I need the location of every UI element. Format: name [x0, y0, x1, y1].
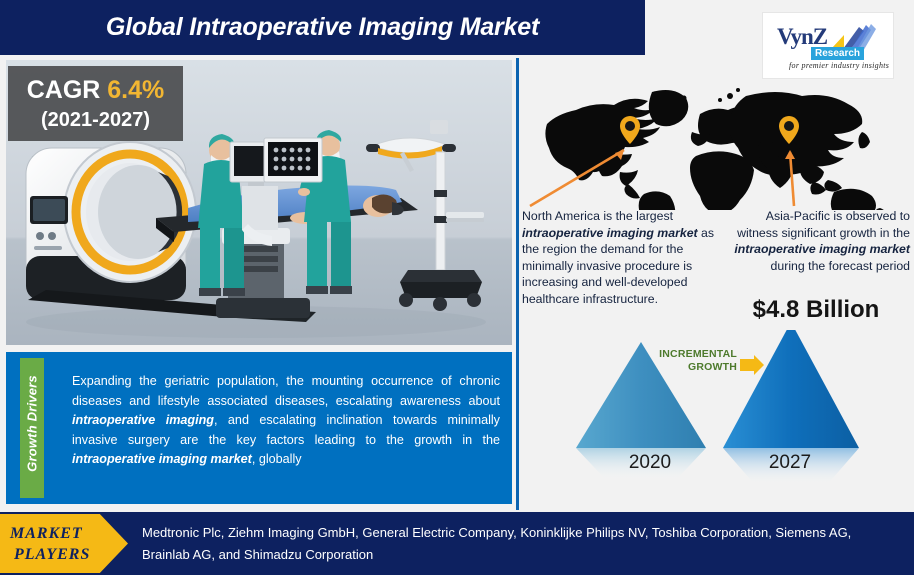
ap-text-part1: Asia-Pacific is observed to witness sign…: [737, 209, 910, 240]
asia-pacific-callout: Asia-Pacific is observed to witness sign…: [722, 208, 910, 274]
page-title: Global Intraoperative Imaging Market: [0, 0, 645, 55]
cagr-prefix: CAGR: [27, 76, 101, 104]
company-logo[interactable]: VynZ Research for premier industry insig…: [762, 12, 894, 79]
growth-drivers-tab: Growth Drivers: [20, 358, 44, 498]
drivers-part1: Expanding the geriatric population, the …: [72, 374, 500, 408]
logo-brand-z: Z: [813, 24, 827, 49]
market-players-text: Medtronic Plc, Ziehm Imaging GmbH, Gener…: [142, 522, 898, 566]
cagr-badge: CAGR 6.4% (2021-2027): [8, 66, 183, 141]
cagr-period: (2021-2027): [41, 110, 150, 130]
logo-tagline: for premier industry insights: [789, 61, 889, 70]
world-map: [524, 80, 910, 210]
growth-drivers-text: Expanding the geriatric population, the …: [72, 372, 500, 470]
panel-divider: [516, 58, 519, 510]
header-bar: Global Intraoperative Imaging Market: [0, 0, 645, 55]
drivers-part3: , globally: [252, 452, 302, 466]
market-value: $4.8 Billion: [722, 296, 910, 324]
market-players-badge-line2: PLAYERS: [0, 544, 90, 565]
logo-subtitle: Research: [811, 47, 864, 60]
inc-line1: INCREMENTAL: [647, 348, 737, 361]
drivers-emphasis1: intraoperative imaging: [72, 413, 214, 427]
na-emphasis: intraoperative imaging market: [522, 226, 698, 240]
growth-drivers-tab-label: Growth Drivers: [25, 354, 40, 494]
ap-emphasis: intraoperative imaging market: [734, 242, 910, 256]
market-players-badge-line1: MARKET: [0, 523, 83, 544]
logo-inner: VynZ Research for premier industry insig…: [763, 13, 893, 78]
incremental-growth-label: INCREMENTAL GROWTH: [647, 348, 737, 374]
cagr-value-line: CAGR 6.4%: [27, 78, 165, 103]
chart-year-2020: 2020: [590, 452, 710, 474]
logo-brand: Vyn: [777, 24, 813, 49]
drivers-emphasis2: intraoperative imaging market: [72, 452, 252, 466]
ap-text-part2: during the forecast period: [771, 259, 910, 273]
chart-year-2027: 2027: [730, 452, 850, 474]
na-text-part1: North America is the largest: [522, 209, 673, 223]
north-america-callout: North America is the largest intraoperat…: [522, 208, 718, 308]
growth-arrow-icon: [740, 355, 764, 375]
infographic-root: Global Intraoperative Imaging Market Vyn…: [0, 0, 914, 575]
inc-line2: GROWTH: [647, 361, 737, 374]
cagr-value: 6.4%: [107, 76, 164, 104]
